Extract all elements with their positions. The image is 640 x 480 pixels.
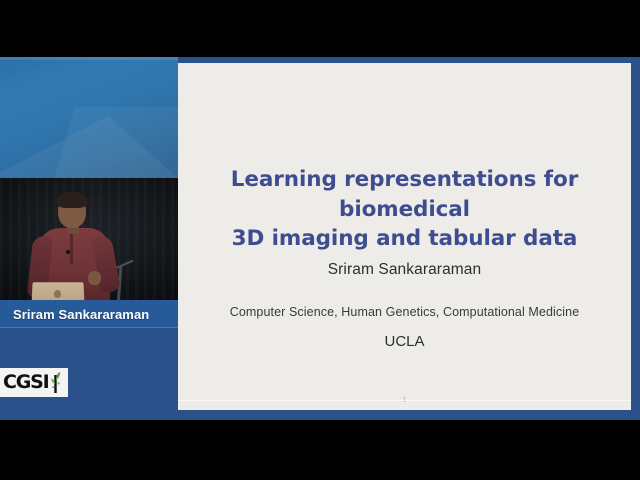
apple-logo-icon xyxy=(54,290,61,298)
slide-organization: UCLA xyxy=(178,333,631,350)
speaker-camera-feed[interactable] xyxy=(0,178,178,306)
shirt-placket xyxy=(70,230,73,264)
slide-bottom-seam xyxy=(178,400,631,401)
sprout-leaf-icon xyxy=(49,371,62,393)
video-frame: CGSI Sriram Sankararaman xyxy=(0,0,640,480)
speaker-name-banner: Sriram Sankararaman xyxy=(0,300,178,328)
speaker-hand xyxy=(88,271,101,285)
speaker-hair xyxy=(57,192,87,208)
speaker-name-label: Sriram Sankararaman xyxy=(0,307,149,322)
slide-author-name: Sriram Sankararaman xyxy=(178,261,631,279)
presentation-slide[interactable]: Learning representations for biomedical … xyxy=(178,63,631,410)
speaker-video-panel[interactable]: CGSI Sriram Sankararaman xyxy=(0,57,178,420)
backdrop-top-highlight xyxy=(0,57,178,60)
video-content-band: CGSI Sriram Sankararaman xyxy=(0,57,640,420)
slide-title: Learning representations for biomedical … xyxy=(178,165,631,254)
letterbox-top xyxy=(0,0,640,57)
letterbox-bottom xyxy=(0,420,640,480)
slide-title-line-1: Learning representations for biomedical xyxy=(178,165,631,224)
slide-area[interactable]: Learning representations for biomedical … xyxy=(178,57,640,420)
room-backdrop-image xyxy=(0,57,178,178)
cgsi-logo-text: CGSI xyxy=(0,373,49,392)
cgsi-logo: CGSI xyxy=(0,368,68,397)
slide-title-line-2: 3D imaging and tabular data xyxy=(178,224,631,254)
lapel-mic-icon xyxy=(66,250,70,254)
slide-affiliation: Computer Science, Human Genetics, Comput… xyxy=(178,305,631,319)
